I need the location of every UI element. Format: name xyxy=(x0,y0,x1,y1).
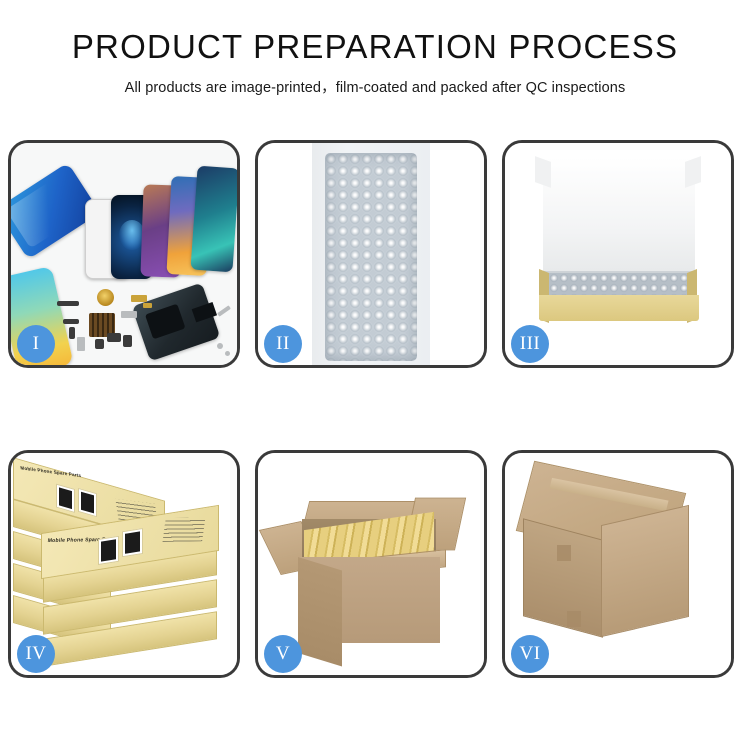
bubble-wrapped-contents xyxy=(549,273,689,295)
spare-part-flex-1 xyxy=(131,295,147,302)
step-panel-4: Mobile Phone Spare Parts Mobile Phone Sp… xyxy=(8,450,240,678)
bubble-wrapped-product xyxy=(325,153,417,361)
spare-part-bar xyxy=(57,301,79,306)
spare-part-screw-2 xyxy=(225,351,230,356)
step-panel-1: I xyxy=(8,140,240,368)
box-lid-flap-right xyxy=(685,156,701,188)
step-panel-6: VI xyxy=(502,450,734,678)
step-badge-5: V xyxy=(264,635,302,673)
box-window-back-2 xyxy=(78,488,97,517)
spare-part-speaker xyxy=(95,339,104,349)
carton-side-face xyxy=(298,557,342,666)
step-badge-2: II xyxy=(264,325,302,363)
carton-notch-top xyxy=(557,545,571,561)
header: PRODUCT PREPARATION PROCESS All products… xyxy=(0,28,750,97)
phone-screen-teal xyxy=(190,166,237,273)
spare-part-module xyxy=(107,333,121,342)
spare-part-sim-tray xyxy=(77,337,85,351)
step-badge-1: I xyxy=(17,325,55,363)
spare-part-screw-1 xyxy=(217,343,223,349)
box-tray-front xyxy=(539,295,699,321)
step-badge-4: IV xyxy=(17,635,55,673)
sealed-carton-left-face xyxy=(523,518,603,637)
spare-part-connector-1 xyxy=(63,319,79,324)
spare-part-tweezers xyxy=(217,305,231,316)
box-window-front-2 xyxy=(122,528,143,557)
spare-part-flex-2 xyxy=(143,303,152,308)
spare-part-coil xyxy=(97,289,114,306)
step-panel-3: III xyxy=(502,140,734,368)
spare-part-bracket xyxy=(121,311,137,318)
spare-part-battery-cell xyxy=(123,335,132,347)
step-panel-5: V xyxy=(255,450,487,678)
box-white-lid xyxy=(543,157,695,275)
box-spec-lines-front xyxy=(163,517,206,542)
product-preparation-infographic: PRODUCT PREPARATION PROCESS All products… xyxy=(0,0,750,750)
page-subtitle: All products are image-printed，film-coat… xyxy=(0,76,750,97)
process-step-grid: I II III xyxy=(8,140,742,678)
box-lid-flap-left xyxy=(535,156,551,188)
box-window-back-1 xyxy=(56,484,75,513)
box-window-front-1 xyxy=(98,536,119,565)
carton-notch-bottom xyxy=(567,611,581,627)
spare-part-connector-2 xyxy=(69,327,75,339)
step-panel-2: II xyxy=(255,140,487,368)
step-badge-3: III xyxy=(511,325,549,363)
page-title: PRODUCT PREPARATION PROCESS xyxy=(0,28,750,66)
step-badge-6: VI xyxy=(511,635,549,673)
sealed-carton-right-face xyxy=(601,505,689,637)
